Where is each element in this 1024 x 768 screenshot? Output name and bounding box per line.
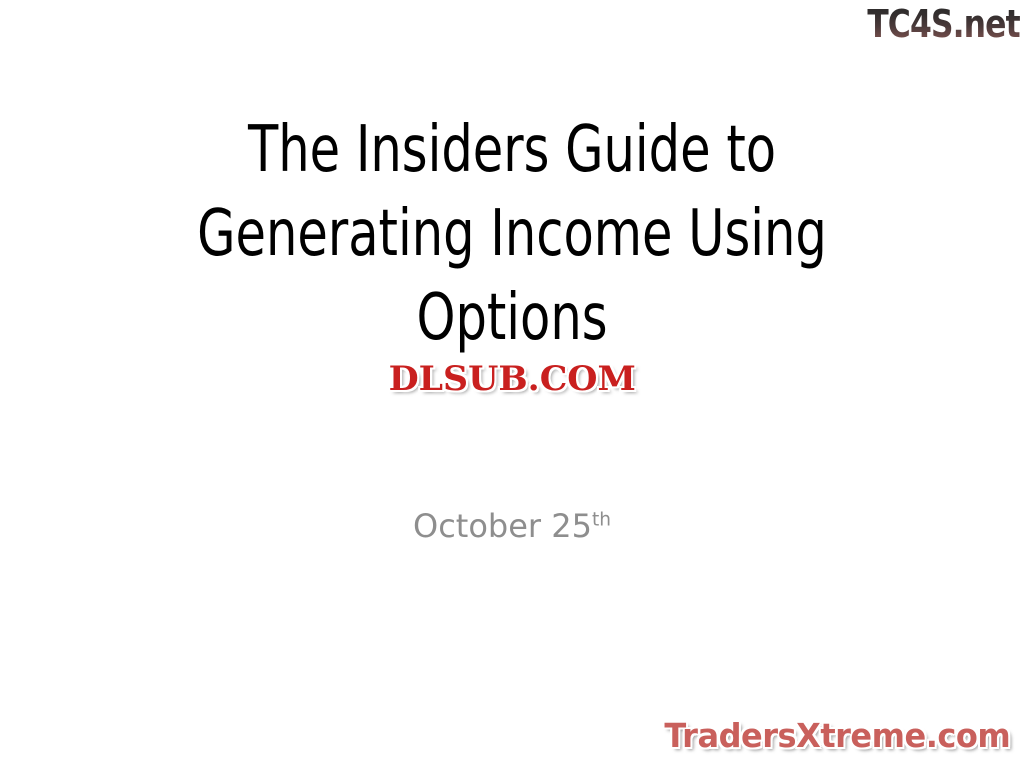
subtitle-date-main: October 25 xyxy=(413,507,592,545)
watermark-container: DLSUB.COM xyxy=(0,360,1024,398)
tradersxtreme-brand-logo: TradersXtreme.com xyxy=(665,716,1011,756)
slide-subtitle-date: October 25th xyxy=(0,505,1024,547)
title-line-1: The Insiders Guide to xyxy=(72,108,953,192)
tc4s-brand-logo: TC4S.net xyxy=(868,2,1020,46)
subtitle-date-ordinal-suffix: th xyxy=(592,509,611,530)
title-line-2: Generating Income Using xyxy=(72,192,953,276)
dlsub-watermark-logo: DLSUB.COM xyxy=(388,360,635,398)
tradersxtreme-logo-container: TradersXtreme.com xyxy=(659,716,1016,756)
presentation-slide: TC4S.net The Insiders Guide to Generatin… xyxy=(0,0,1024,768)
title-line-3: Options xyxy=(72,276,953,360)
slide-title: The Insiders Guide to Generating Income … xyxy=(0,108,1024,360)
